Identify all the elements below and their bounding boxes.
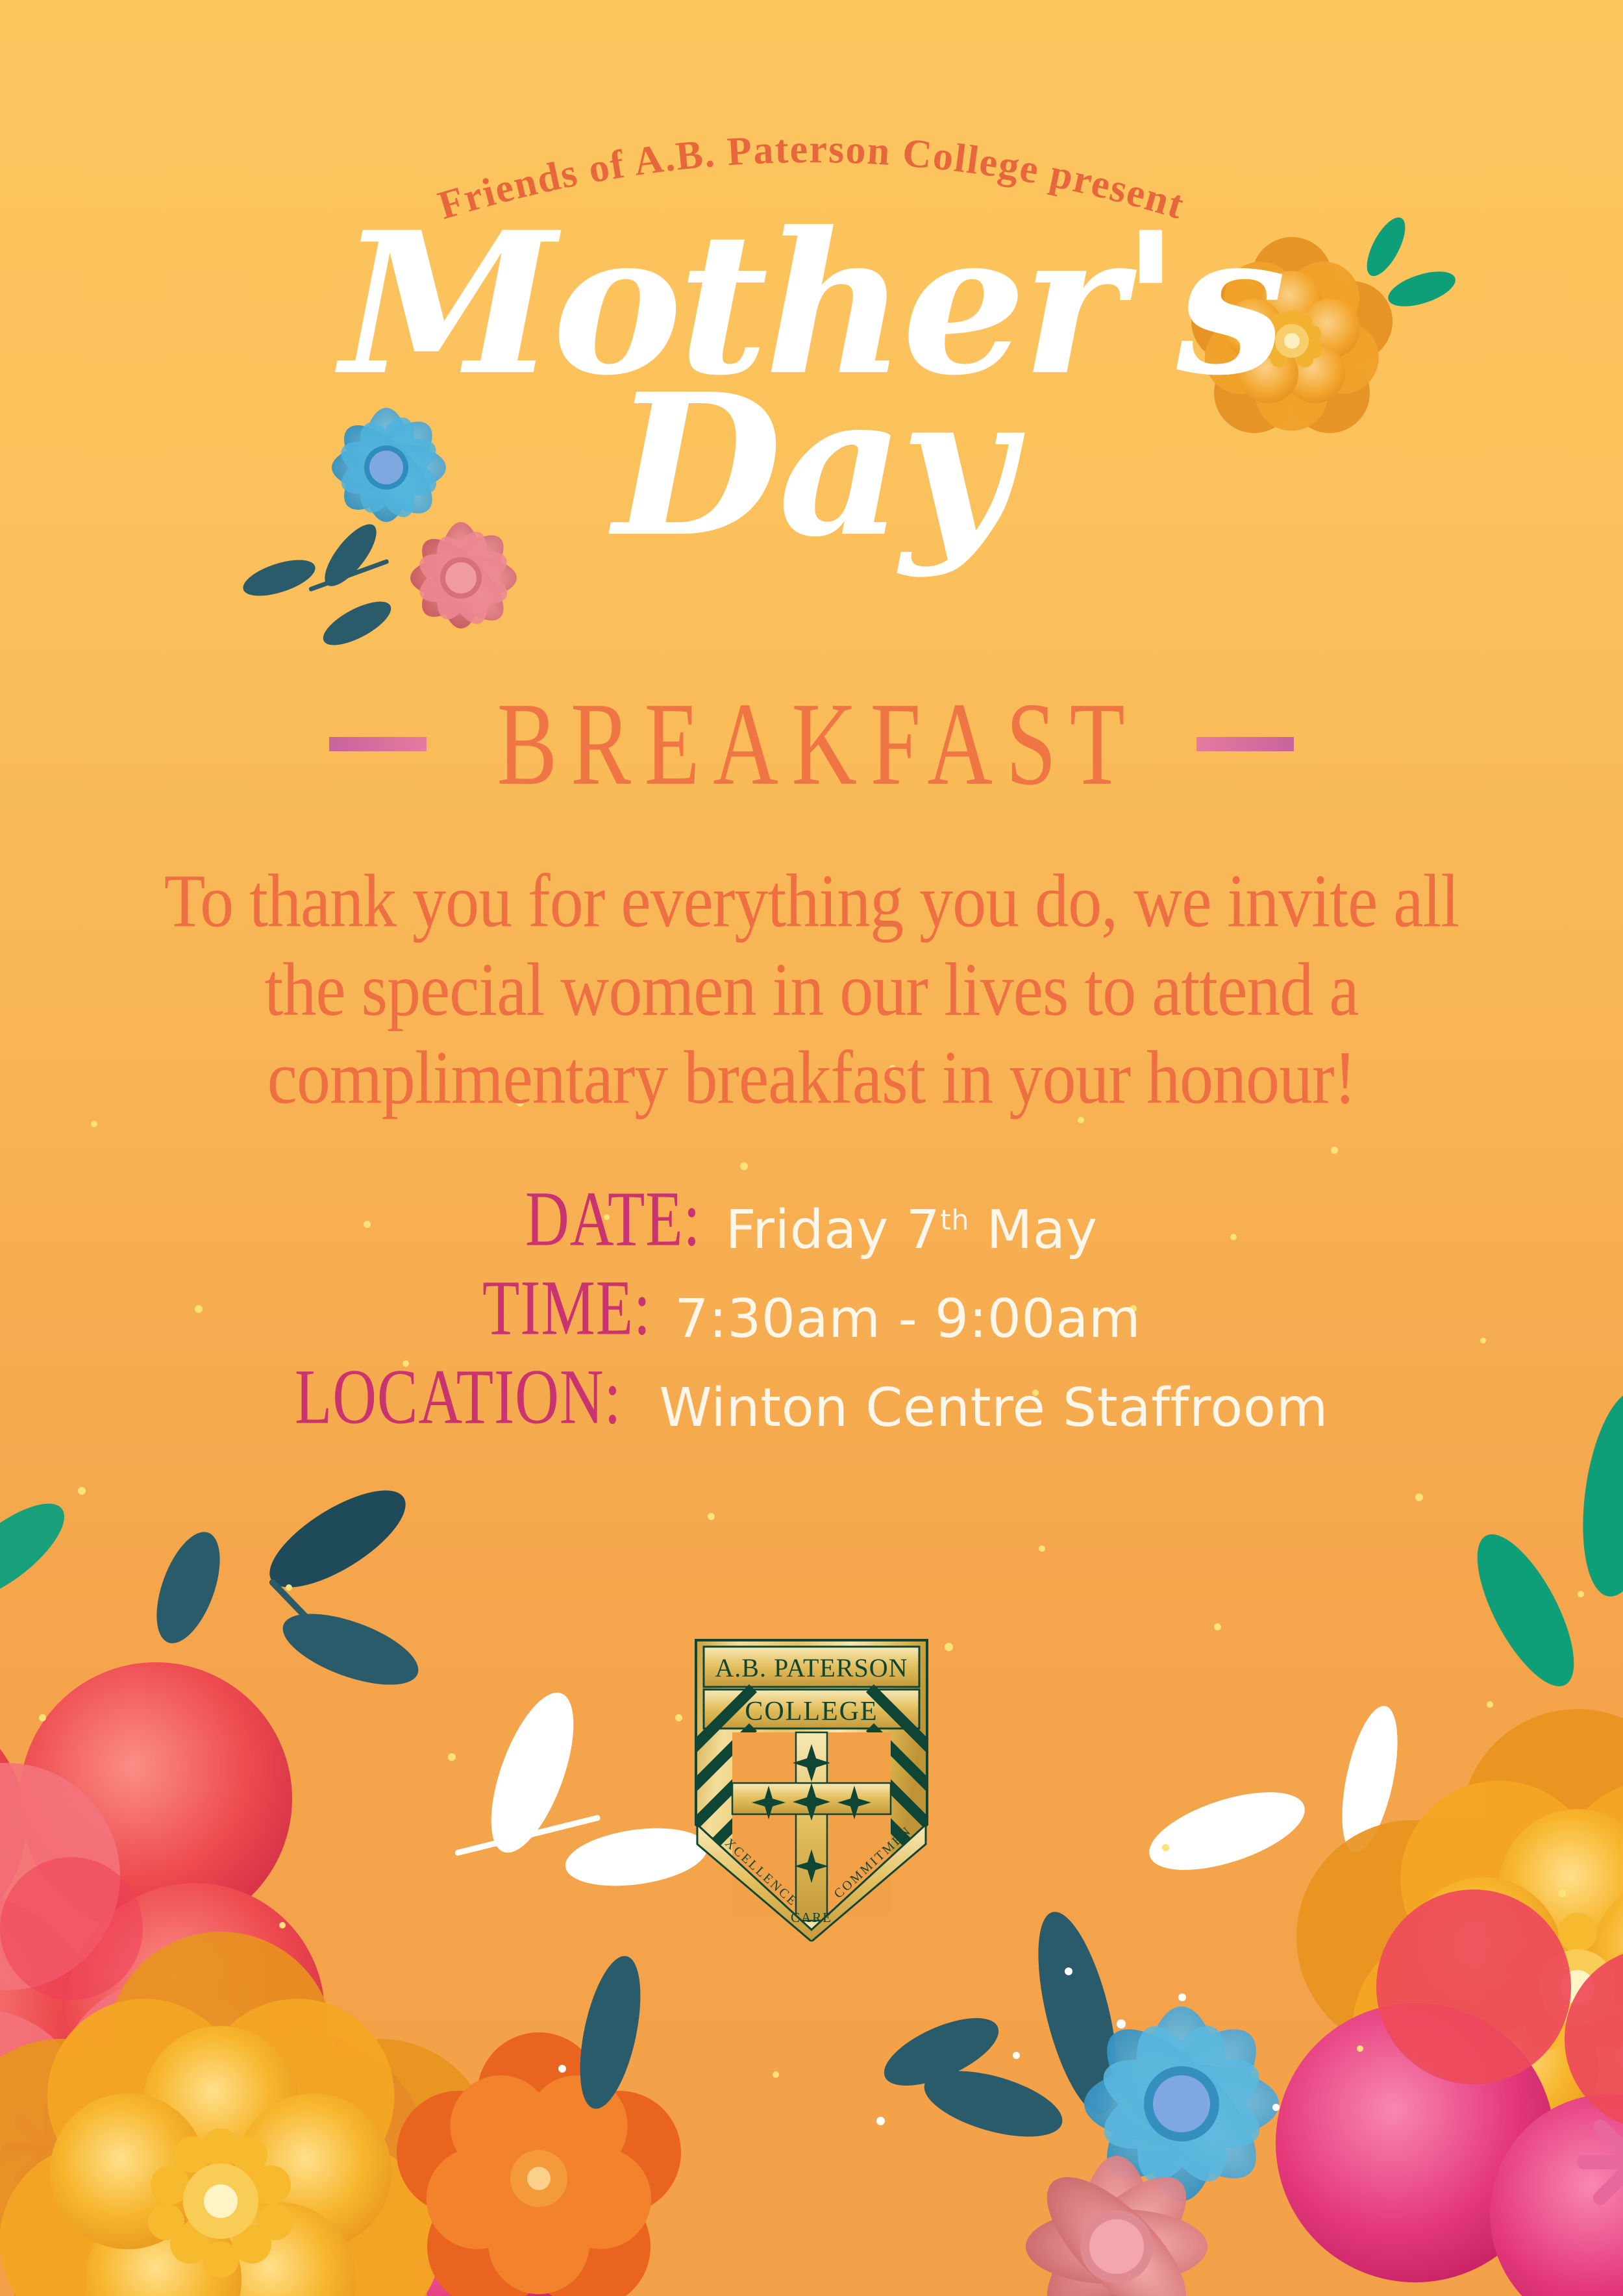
date-value-main: Friday 7 (725, 1199, 940, 1261)
leaf-icon (875, 1385, 1623, 2149)
orange-marigold-icon (1274, 1667, 1623, 2286)
dash-rule-icon-right (1196, 737, 1294, 751)
crest-motto-center: CARE (791, 1910, 832, 1925)
pink-dahlia-icon (1026, 2156, 1208, 2296)
presenter-arch: Friends of A.B. Paterson College present (0, 97, 1623, 266)
stamen-icon (6, 2107, 91, 2191)
event-details: DATE: Friday 7th May TIME: 7:30am - 9:00… (0, 1188, 1623, 1455)
svg-text:Friends of A.B. Paterson Colle: Friends of A.B. Paterson College present (433, 127, 1189, 228)
stamen-icon (1584, 2110, 1623, 2214)
detail-row-location: LOCATION: Winton Centre Staffroom (295, 1366, 1328, 1442)
detail-row-time: TIME: 7:30am - 9:00am (482, 1277, 1141, 1353)
blue-dahlia-icon (1073, 1995, 1289, 2212)
magenta-bloom-icon (1276, 2003, 1623, 2296)
top-left-flower-cluster (247, 344, 610, 682)
mothers-day-breakfast-poster: Friends of A.B. Paterson College present… (0, 0, 1623, 2296)
subtitle: BREAKFAST (485, 676, 1138, 812)
date-value-ordinal: th (940, 1204, 969, 1237)
dash-rule-icon-left (329, 737, 427, 751)
time-value: 7:30am - 9:00am (675, 1288, 1141, 1350)
date-value: Friday 7th May (725, 1199, 1097, 1261)
bottom-right-flower-corner (922, 1416, 1623, 2296)
magenta-bloom-icon (169, 2032, 571, 2296)
crest-line-1: A.B. PATERSON (715, 1653, 908, 1682)
bottom-left-flower-corner (0, 1461, 727, 2296)
leaf-icon (0, 1472, 711, 1894)
leaf-icon (569, 1951, 652, 2114)
red-hibiscus-icon (0, 1662, 325, 2224)
detail-row-date: DATE: Friday 7th May (525, 1188, 1097, 1264)
location-value: Winton Centre Staffroom (659, 1377, 1328, 1439)
invitation-blurb: To thank you for everything you do, we i… (117, 857, 1506, 1123)
small-orange-bloom-icon (388, 2019, 698, 2296)
pink-dahlia-icon (402, 516, 525, 641)
shield-crest-icon: A.B. PATERSON COLLEGE (682, 1630, 941, 1941)
subtitle-row: BREAKFAST (0, 688, 1623, 800)
presenter-line: Friends of A.B. Paterson College present (433, 127, 1189, 228)
crest-line-2: COLLEGE (745, 1697, 878, 1727)
location-label: LOCATION: (295, 1353, 622, 1442)
title-line-2: Day (0, 378, 1623, 553)
yellow-marigold-icon (0, 1888, 533, 2296)
leaf-icon (239, 517, 397, 654)
blue-dahlia-icon (321, 400, 455, 536)
time-label: TIME: (482, 1264, 651, 1353)
date-label: DATE: (525, 1175, 700, 1264)
red-bloom-icon (1376, 1890, 1623, 2130)
date-value-tail: May (969, 1199, 1098, 1261)
